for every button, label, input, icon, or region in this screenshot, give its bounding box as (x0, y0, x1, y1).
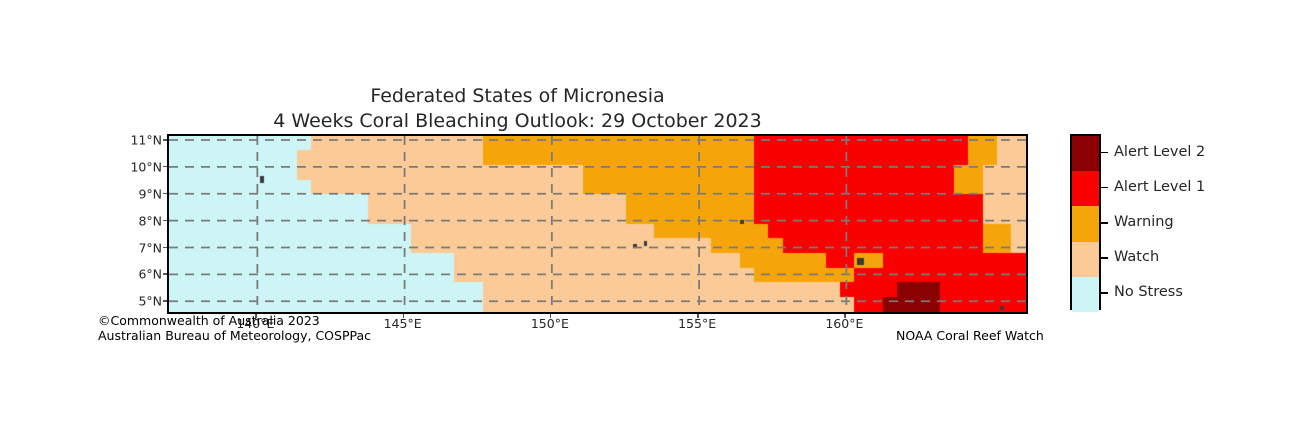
y-axis-tick-label: 9°N (102, 186, 162, 201)
legend-tick-mark (1101, 222, 1108, 224)
legend-tick-mark (1101, 187, 1108, 189)
legend-swatch (1072, 242, 1099, 277)
attribution-agency: Australian Bureau of Meteorology, COSPPa… (98, 328, 371, 343)
legend-label: No Stress (1114, 284, 1183, 300)
attribution-left: ©Commonwealth of Australia 2023 Australi… (98, 313, 371, 343)
legend: Alert Level 2Alert Level 1WarningWatchNo… (1070, 134, 1280, 310)
y-axis-tick-label: 7°N (102, 240, 162, 255)
x-axis-tick-label: 150°E (531, 316, 569, 331)
bleaching-heatmap (169, 136, 1026, 312)
x-axis-tick-label: 155°E (678, 316, 716, 331)
legend-swatch (1072, 171, 1099, 206)
map-plot-area (167, 134, 1028, 314)
y-axis-tick-label: 11°N (102, 133, 162, 148)
legend-label: Alert Level 1 (1114, 179, 1205, 195)
y-axis-tick-label: 10°N (102, 159, 162, 174)
legend-swatch (1072, 206, 1099, 241)
attribution-right: NOAA Coral Reef Watch (896, 328, 1044, 343)
x-axis-tick-label: 160°E (825, 316, 863, 331)
legend-label: Warning (1114, 214, 1174, 230)
title-line-1: Federated States of Micronesia (0, 84, 1035, 109)
legend-tick-mark (1101, 152, 1108, 154)
legend-swatch (1072, 136, 1099, 171)
title-line-2: 4 Weeks Coral Bleaching Outlook: 29 Octo… (0, 109, 1035, 134)
y-axis-tick-label: 6°N (102, 267, 162, 282)
legend-colorbar (1070, 134, 1101, 310)
legend-label: Watch (1114, 249, 1159, 265)
legend-swatch (1072, 277, 1099, 312)
legend-label: Alert Level 2 (1114, 144, 1205, 160)
chart-title: Federated States of Micronesia 4 Weeks C… (0, 84, 1035, 134)
y-axis-tick-label: 8°N (102, 213, 162, 228)
legend-tick-mark (1101, 292, 1108, 294)
y-axis-labels: 5°N6°N7°N8°N9°N10°N11°N (100, 134, 162, 314)
x-axis-tick-label: 145°E (384, 316, 422, 331)
attribution-copyright: ©Commonwealth of Australia 2023 (98, 313, 371, 328)
coral-bleaching-outlook-figure: Federated States of Micronesia 4 Weeks C… (0, 0, 1293, 447)
y-axis-tick-label: 5°N (102, 294, 162, 309)
legend-tick-mark (1101, 257, 1108, 259)
